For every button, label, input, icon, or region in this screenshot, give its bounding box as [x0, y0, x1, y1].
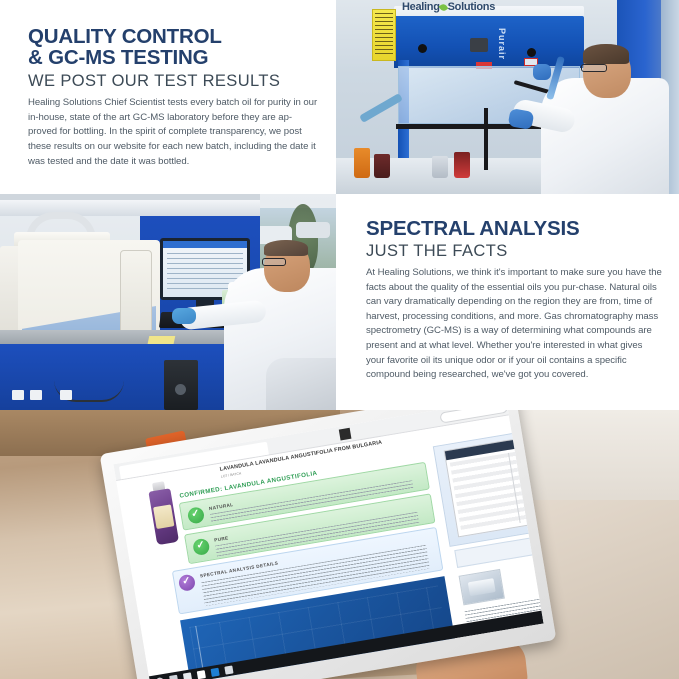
report-subtitle: LOT / BATCH	[221, 471, 242, 478]
spectral-icon	[178, 574, 196, 592]
reagent-bottle	[354, 148, 370, 178]
hood-knob	[418, 44, 427, 53]
fume-hood-photo: HealingSolutions Purair	[336, 0, 679, 194]
reagent-bottle	[374, 154, 390, 178]
scientist-hair	[264, 240, 308, 256]
spectral-headline: SPECTRAL ANALYSIS	[366, 218, 663, 239]
hood-knob	[527, 48, 536, 57]
nitrile-glove	[172, 308, 196, 324]
scientist-hair	[583, 44, 629, 64]
fume-hood-model-label: Purair	[497, 28, 507, 60]
report-thumbnail-image	[459, 569, 505, 606]
hood-control-panel	[470, 38, 488, 52]
product-bottle-image	[147, 480, 179, 545]
spectral-subhead: JUST THE FACTS	[366, 242, 663, 261]
quality-subhead: WE POST OUR TEST RESULTS	[28, 72, 318, 91]
taskbar-app-icon[interactable]	[224, 665, 233, 674]
fume-hood-brand-label: HealingSolutions	[402, 1, 495, 13]
reagent-bottle	[454, 152, 470, 178]
overhead-shelf	[0, 200, 260, 216]
tablet-report-photo: LAVANDULA LAVANDULA ANGUSTIFOLIA FROM BU…	[0, 410, 679, 679]
fume-hood-body	[394, 16, 584, 68]
safety-glasses-icon	[262, 258, 286, 266]
lab-stand-pole	[484, 108, 488, 170]
browser-menu-icon[interactable]	[339, 428, 352, 441]
computer-tower	[164, 360, 198, 410]
quality-headline-line-2: & GC-MS TESTING	[28, 47, 318, 68]
spectral-analysis-text-panel: SPECTRAL ANALYSIS JUST THE FACTS At Heal…	[336, 194, 679, 410]
hazard-warning-label	[372, 9, 396, 61]
quality-control-text-panel: QUALITY CONTROL & GC-MS TESTING WE POST …	[0, 0, 336, 194]
bottle-label	[153, 504, 174, 529]
quality-headline: QUALITY CONTROL & GC-MS TESTING	[28, 26, 318, 68]
taskbar-browser-icon[interactable]	[210, 667, 219, 676]
lab-chair	[266, 358, 336, 410]
check-icon	[192, 538, 210, 556]
window-car	[296, 222, 330, 238]
reagent-bottle	[432, 156, 448, 178]
tablet-device[interactable]: LAVANDULA LAVANDULA ANGUSTIFOLIA FROM BU…	[100, 410, 557, 679]
taskbar-app-icon[interactable]	[169, 674, 178, 679]
nitrile-glove	[533, 64, 551, 80]
gcms-instrument-photo	[0, 194, 336, 410]
quality-body-copy: Healing Solutions Chief Scientist tests …	[28, 96, 320, 169]
marketing-infographic: QUALITY CONTROL & GC-MS TESTING WE POST …	[0, 0, 679, 679]
wall-outlet	[12, 390, 24, 400]
check-icon	[187, 506, 205, 524]
taskbar-app-icon[interactable]	[197, 670, 206, 679]
quality-headline-line-1: QUALITY CONTROL	[28, 26, 318, 47]
taskbar-app-icon[interactable]	[183, 672, 192, 679]
spectral-body-copy: At Healing Solutions, we think it's impo…	[366, 266, 662, 383]
safety-glasses-icon	[581, 64, 607, 72]
bench-front-panel	[0, 344, 260, 410]
pure-badge-label: PURE	[214, 535, 229, 542]
wall-outlet	[30, 390, 42, 400]
wall-outlet	[60, 390, 72, 400]
